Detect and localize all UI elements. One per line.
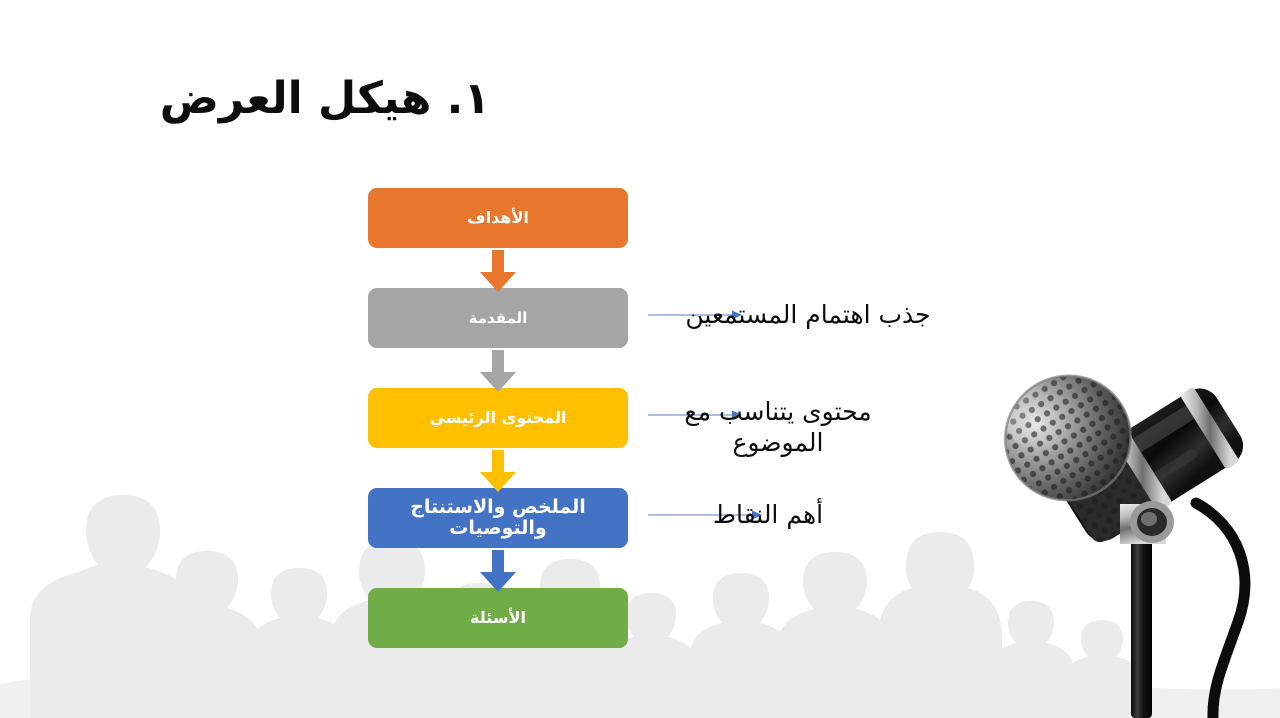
flow-box-main-content-label: المحتوى الرئيسي [424, 409, 573, 427]
microphone-chrome-ring-front [1112, 428, 1173, 512]
annotation-main-content-text: محتوى يتناسب مع الموضوع [653, 397, 903, 458]
page-title: ١. هيكل العرض [0, 74, 650, 125]
flow-box-questions[interactable]: الأسئلة [368, 588, 628, 648]
annotation-introduction-text: جذب اهتمام المستمعين [658, 300, 958, 331]
annotation-summary-text: أهم النقاط [648, 500, 888, 531]
microphone-grille [982, 358, 1155, 524]
microphone-body [1052, 381, 1251, 549]
flow-box-main-content[interactable]: المحتوى الرئيسي [368, 388, 628, 448]
microphone-cable [1196, 503, 1245, 718]
arrow-down-icon-summary-to-questions [478, 550, 518, 592]
microphone-stand-pole [1131, 518, 1152, 718]
arrow-down-icon-introduction-to-main-content [478, 350, 518, 392]
presentation-slide: ١. هيكل العرض الأهداف المقدمة المحتوى ال… [0, 0, 1280, 718]
arrow-down-icon-objectives-to-introduction [478, 250, 518, 292]
microphone-clamp [1120, 501, 1174, 544]
audience-silhouettes-icon [0, 468, 1280, 718]
flow-box-introduction-label: المقدمة [463, 310, 534, 327]
flow-box-objectives[interactable]: الأهداف [368, 188, 628, 248]
microphone-chrome-ring-rear [1180, 387, 1240, 470]
flow-box-questions-label: الأسئلة [464, 609, 532, 627]
flow-box-summary-label: الملخص والاستنتاج والتوصيات [368, 497, 628, 539]
flow-box-objectives-label: الأهداف [461, 209, 535, 227]
flow-box-introduction[interactable]: المقدمة [368, 288, 628, 348]
arrow-down-icon-main-content-to-summary [478, 450, 518, 492]
flow-box-summary[interactable]: الملخص والاستنتاج والتوصيات [368, 488, 628, 548]
microphone-icon [980, 358, 1280, 718]
